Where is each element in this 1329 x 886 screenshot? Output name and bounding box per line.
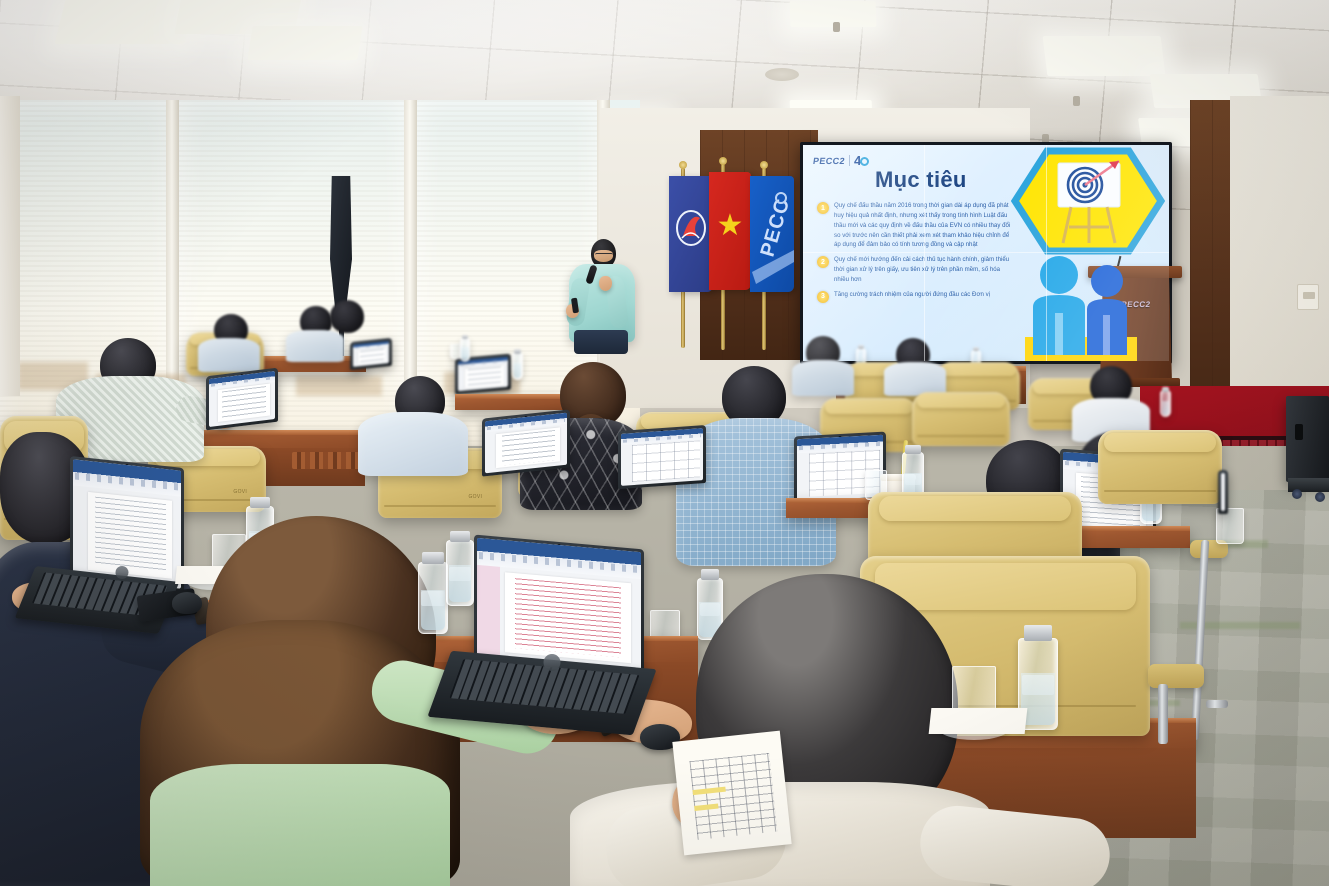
slide-title: Mục tiêu [875,167,967,193]
attendee-torso [884,362,946,396]
attendee-head [330,300,364,333]
laptop[interactable] [206,368,278,431]
yellow-star-icon: ★ [717,211,744,241]
list-item: 2 Quy chế mới hướng đến cải cách thủ tục… [817,255,1013,285]
presentation-slide: PECC2 4 Mục tiêu 1 Quy chế đấu thầu năm … [803,145,1169,361]
desk [455,394,563,410]
wall-switch-plate[interactable] [1297,284,1319,310]
chair-brand-tag: GOVI [233,489,247,495]
list-item: 1 Quy chế đấu thầu năm 2016 trong thời g… [817,201,1013,250]
laptop[interactable] [350,338,392,370]
slide-bullet-list: 1 Quy chế đấu thầu năm 2016 trong thời g… [817,201,1013,308]
water-bottle[interactable] [446,540,474,606]
computer-mouse[interactable] [172,592,202,614]
evn-emblem-icon [669,176,713,292]
laptop[interactable] [482,409,570,476]
presenter-trousers [574,330,628,354]
caster-wheel-icon [1292,489,1302,499]
bullet-text: Quy chế đấu thầu năm 2016 trong thời gia… [834,201,1013,250]
desk-fretwork [292,452,360,469]
bullet-text: Quy chế mới hướng đến cải cách thủ tục h… [834,255,1013,285]
bullet-number: 1 [817,202,829,214]
two-people-icon [1019,251,1147,361]
subwoofer [1286,396,1329,482]
slide-logo: PECC2 4 [813,153,869,168]
right-wall [1230,96,1329,406]
laptop-logo [116,566,129,579]
svg-text:PECC: PECC [757,196,794,259]
bullet-number: 3 [817,291,829,303]
presenter-hand-mic [599,276,612,291]
glasses-icon [595,253,613,257]
list-item: 3 Tăng cường trách nhiệm của người đứng … [817,290,1013,303]
caster-wheel-icon [1315,492,1325,502]
bullet-text: Tăng cường trách nhiệm của người đứng đầ… [834,290,990,303]
bullet-number: 2 [817,256,829,268]
chair-leg [1206,700,1228,708]
attendee-torso [198,338,260,372]
sprinkler-head-icon [1073,96,1080,106]
attendee-torso [286,330,344,362]
laptop[interactable] [618,425,706,489]
attendee-mint-top [150,764,450,886]
attendee-torso [792,360,854,396]
flag-evn [669,176,713,292]
ceiling-light-panel [1043,36,1166,76]
chair-leg [1158,684,1168,744]
water-bottle[interactable] [460,338,470,362]
laptop[interactable] [1218,470,1228,514]
chair-armrest [1148,664,1204,688]
target-easel-icon [1011,147,1165,255]
anniversary-badge: 4 [854,153,869,168]
water-bottle[interactable] [1160,390,1171,417]
ceiling-light-panel [55,0,196,44]
ceiling-speaker-icon [765,68,799,81]
water-bottle[interactable] [418,562,448,634]
chair[interactable] [912,392,1010,446]
video-wall-display[interactable]: PECC2 4 Mục tiêu 1 Quy chế đấu thầu năm … [800,142,1172,364]
sprinkler-head-icon [833,22,840,32]
conference-room-photo: PECC2 4 Mục tiêu 1 Quy chế đấu thầu năm … [0,0,1329,886]
wall-column [0,96,20,396]
flag-vietnam: ★ [709,172,751,290]
chair-brand-tag: GOVI [468,494,482,500]
water-bottle[interactable] [512,352,523,380]
chair[interactable] [1098,430,1222,504]
flag-pecc2: PECC [750,176,794,292]
pecc2-wordmark-icon: PECC [750,176,794,292]
pecc2-wordmark: PECC2 [812,156,845,166]
attendee-torso [358,412,468,476]
napkin [929,708,1028,734]
ceiling-light-panel [247,26,362,60]
laptop-logo [544,654,561,671]
printed-document[interactable] [672,731,791,856]
